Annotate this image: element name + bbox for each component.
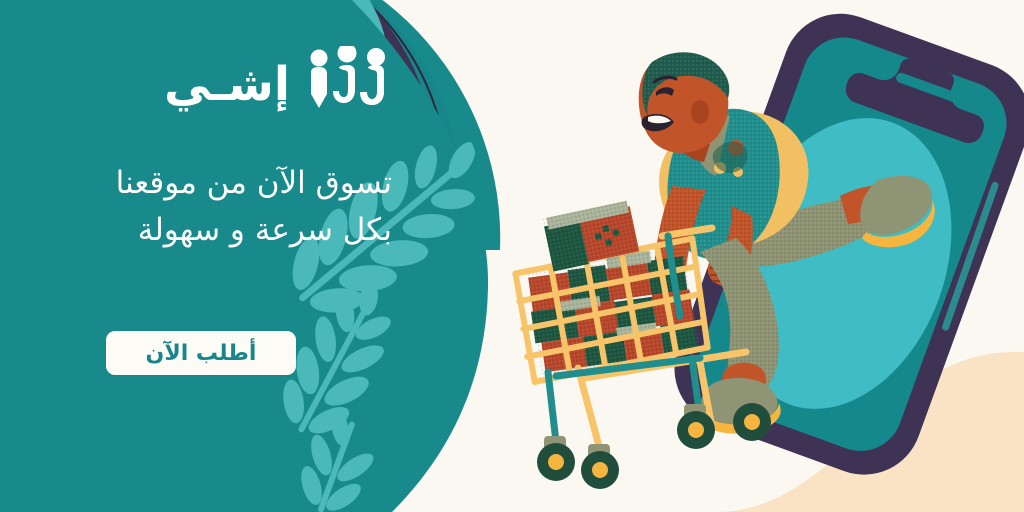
- promo-banner: إشـي تسوق الآن من موقعنا بكل سرعة و سهول…: [0, 0, 1024, 512]
- illustration-layer: [0, 0, 1024, 512]
- brand-name-label: إشـي: [164, 61, 290, 108]
- brand-logo[interactable]: إشـي: [164, 46, 396, 110]
- three-figures-glyph-icon: [300, 46, 396, 110]
- order-now-button-label: أطلب الآن: [146, 341, 257, 366]
- order-now-button[interactable]: أطلب الآن: [106, 331, 296, 375]
